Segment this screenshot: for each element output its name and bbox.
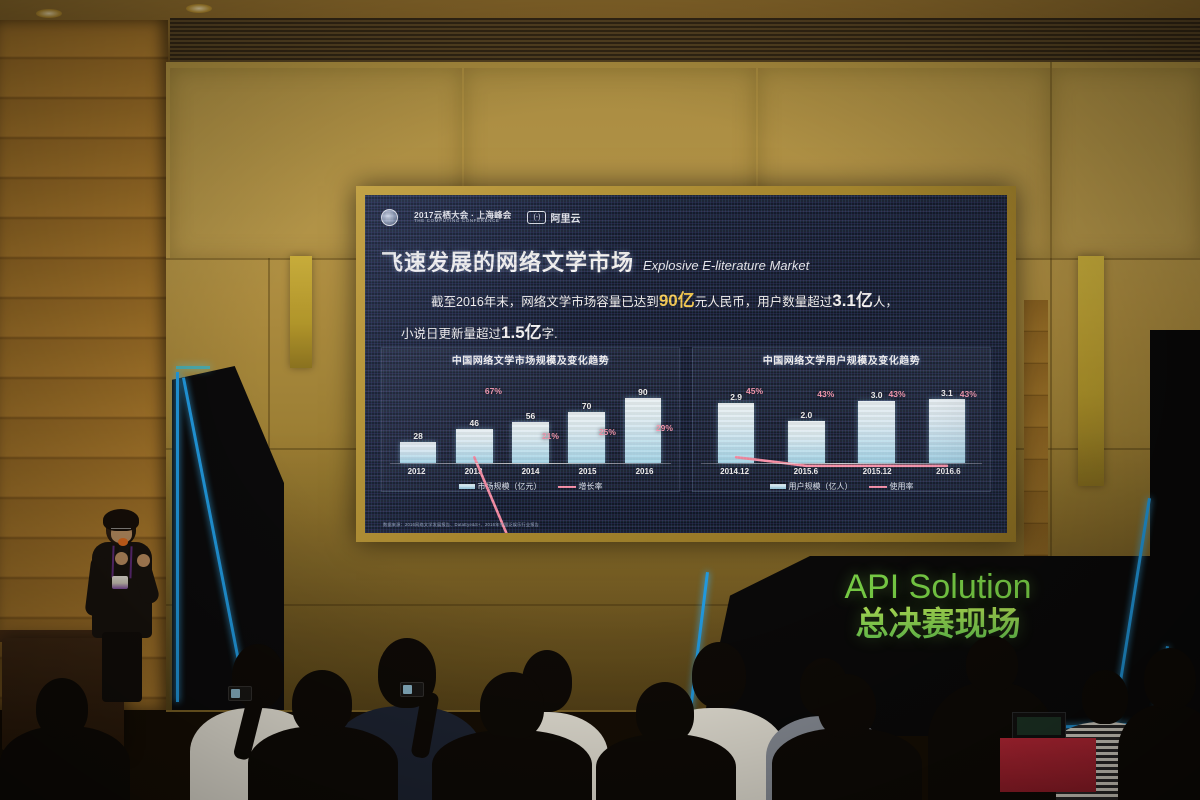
phone-screen [231,689,240,698]
chart-growth-line [390,370,671,533]
red-draped-table [1000,738,1096,792]
audience-member-head [692,642,746,708]
slide-charts: 中国网络文学市场规模及变化趋势 2846567090 67%21%25%29% … [381,347,991,492]
alibaba-cloud-mark-icon: (-) [527,211,546,224]
chart-line-value-label: 25% [599,427,616,437]
lead1-post: 人， [873,295,898,309]
chart-x-axis [390,463,671,465]
audience-member-head [1082,670,1128,724]
chart-plot-area: 2.92.03.03.1 45%43%43%43% [699,370,984,464]
lead2-highlight: 1.5亿 [501,323,542,342]
blue-accent-line [176,366,210,369]
chart-line-value-label: 45% [746,386,763,396]
slide-title-cn: 飞速发展的网络文学市场 [381,245,634,277]
chart-title: 中国网络文学市场规模及变化趋势 [388,352,673,367]
chart-line-value-label: 43% [889,389,906,399]
wall-gold-strip [290,256,312,368]
chart-title: 中国网络文学用户规模及变化趋势 [699,352,984,367]
chart-plot-area: 2846567090 67%21%25%29% [388,370,673,464]
chart-line-value-label: 43% [817,389,834,399]
audience-front-shoulders [432,730,592,800]
lead1-highlight-market-size: 90亿 [659,291,695,310]
lead2-post: 字. [542,327,558,341]
alibaba-cloud-logo: (-) 阿里云 [527,210,580,225]
chart-line-value-label: 67% [485,386,502,396]
chart-line-value-label: 29% [656,423,673,433]
banner-line-en: API Solution [788,568,1088,606]
slide-lead-line-1: 截至2016年末，网络文学市场容量已达到90亿元人民币，用户数量超过3.1亿人， [431,286,991,311]
audience-member-shoulders [1118,704,1200,800]
conference-wordmark: 2017云栖大会 · 上海峰会 THE COMPUTING CONFERENCE [414,211,511,224]
chart-user-scale: 中国网络文学用户规模及变化趋势 2.92.03.03.1 45%43%43%43… [692,347,991,492]
audience-front-head [636,682,694,744]
presentation-slide: 2017云栖大会 · 上海峰会 THE COMPUTING CONFERENCE… [365,195,1007,533]
wall-panel [1052,68,1200,258]
ceiling-light [36,9,62,18]
lead1-pre: 截至2016年末，网络文学市场容量已达到 [431,295,659,309]
led-screen: 2017云栖大会 · 上海峰会 THE COMPUTING CONFERENCE… [365,195,1007,533]
audience [0,630,1200,800]
audience-front-head [36,678,88,738]
smartphone [228,686,252,701]
alibaba-cloud-name: 阿里云 [550,210,580,225]
audience-front-head [292,670,352,736]
conference-name-en: THE COMPUTING CONFERENCE [414,219,511,223]
projection-screen-frame: 2017云栖大会 · 上海峰会 THE COMPUTING CONFERENCE… [356,186,1016,542]
speaker-lanyard [111,546,132,579]
laptop-screen [1017,717,1061,735]
slide-branding: 2017云栖大会 · 上海峰会 THE COMPUTING CONFERENCE… [381,207,991,227]
speaker-glasses [111,528,131,533]
ceiling-light [186,4,212,13]
lead2-pre: 小说日更新量超过 [401,327,501,341]
conference-hall-photo: 2017云栖大会 · 上海峰会 THE COMPUTING CONFERENCE… [0,0,1200,800]
speaker-hand-right [137,554,150,567]
chart-x-axis [701,463,982,465]
audience-member-head [1144,648,1196,710]
audience-front-head [480,672,544,740]
slide-lead-line-2: 小说日更新量超过1.5亿字. [401,318,991,343]
microphone-windscreen-icon [118,538,128,546]
smartphone [400,682,424,697]
chart-usage-line [701,370,982,533]
lead1-highlight-users: 3.1亿 [832,291,873,310]
chart-line-value-label: 43% [960,389,977,399]
lead1-mid: 元人民币，用户数量超过 [695,295,833,309]
conference-globe-icon [381,209,398,226]
audience-front-shoulders [772,728,922,800]
phone-screen [403,685,412,694]
slide-source-note: 数据来源：2016网络文学发展报告、DataEye&S+、2016年中国泛娱乐行… [383,522,539,528]
stage-decor-panel-far-right [1150,330,1200,660]
audience-front-shoulders [248,726,398,800]
audience-front-head [966,636,1018,692]
chart-line-value-label: 21% [542,431,559,441]
slide-title-row: 飞速发展的网络文学市场 Explosive E-literature Marke… [381,245,991,277]
chart-market-size: 中国网络文学市场规模及变化趋势 2846567090 67%21%25%29% … [381,347,680,492]
slide-title-en: Explosive E-literature Market [643,258,809,273]
audience-front-head [818,674,876,738]
speaker-badge [112,576,128,589]
